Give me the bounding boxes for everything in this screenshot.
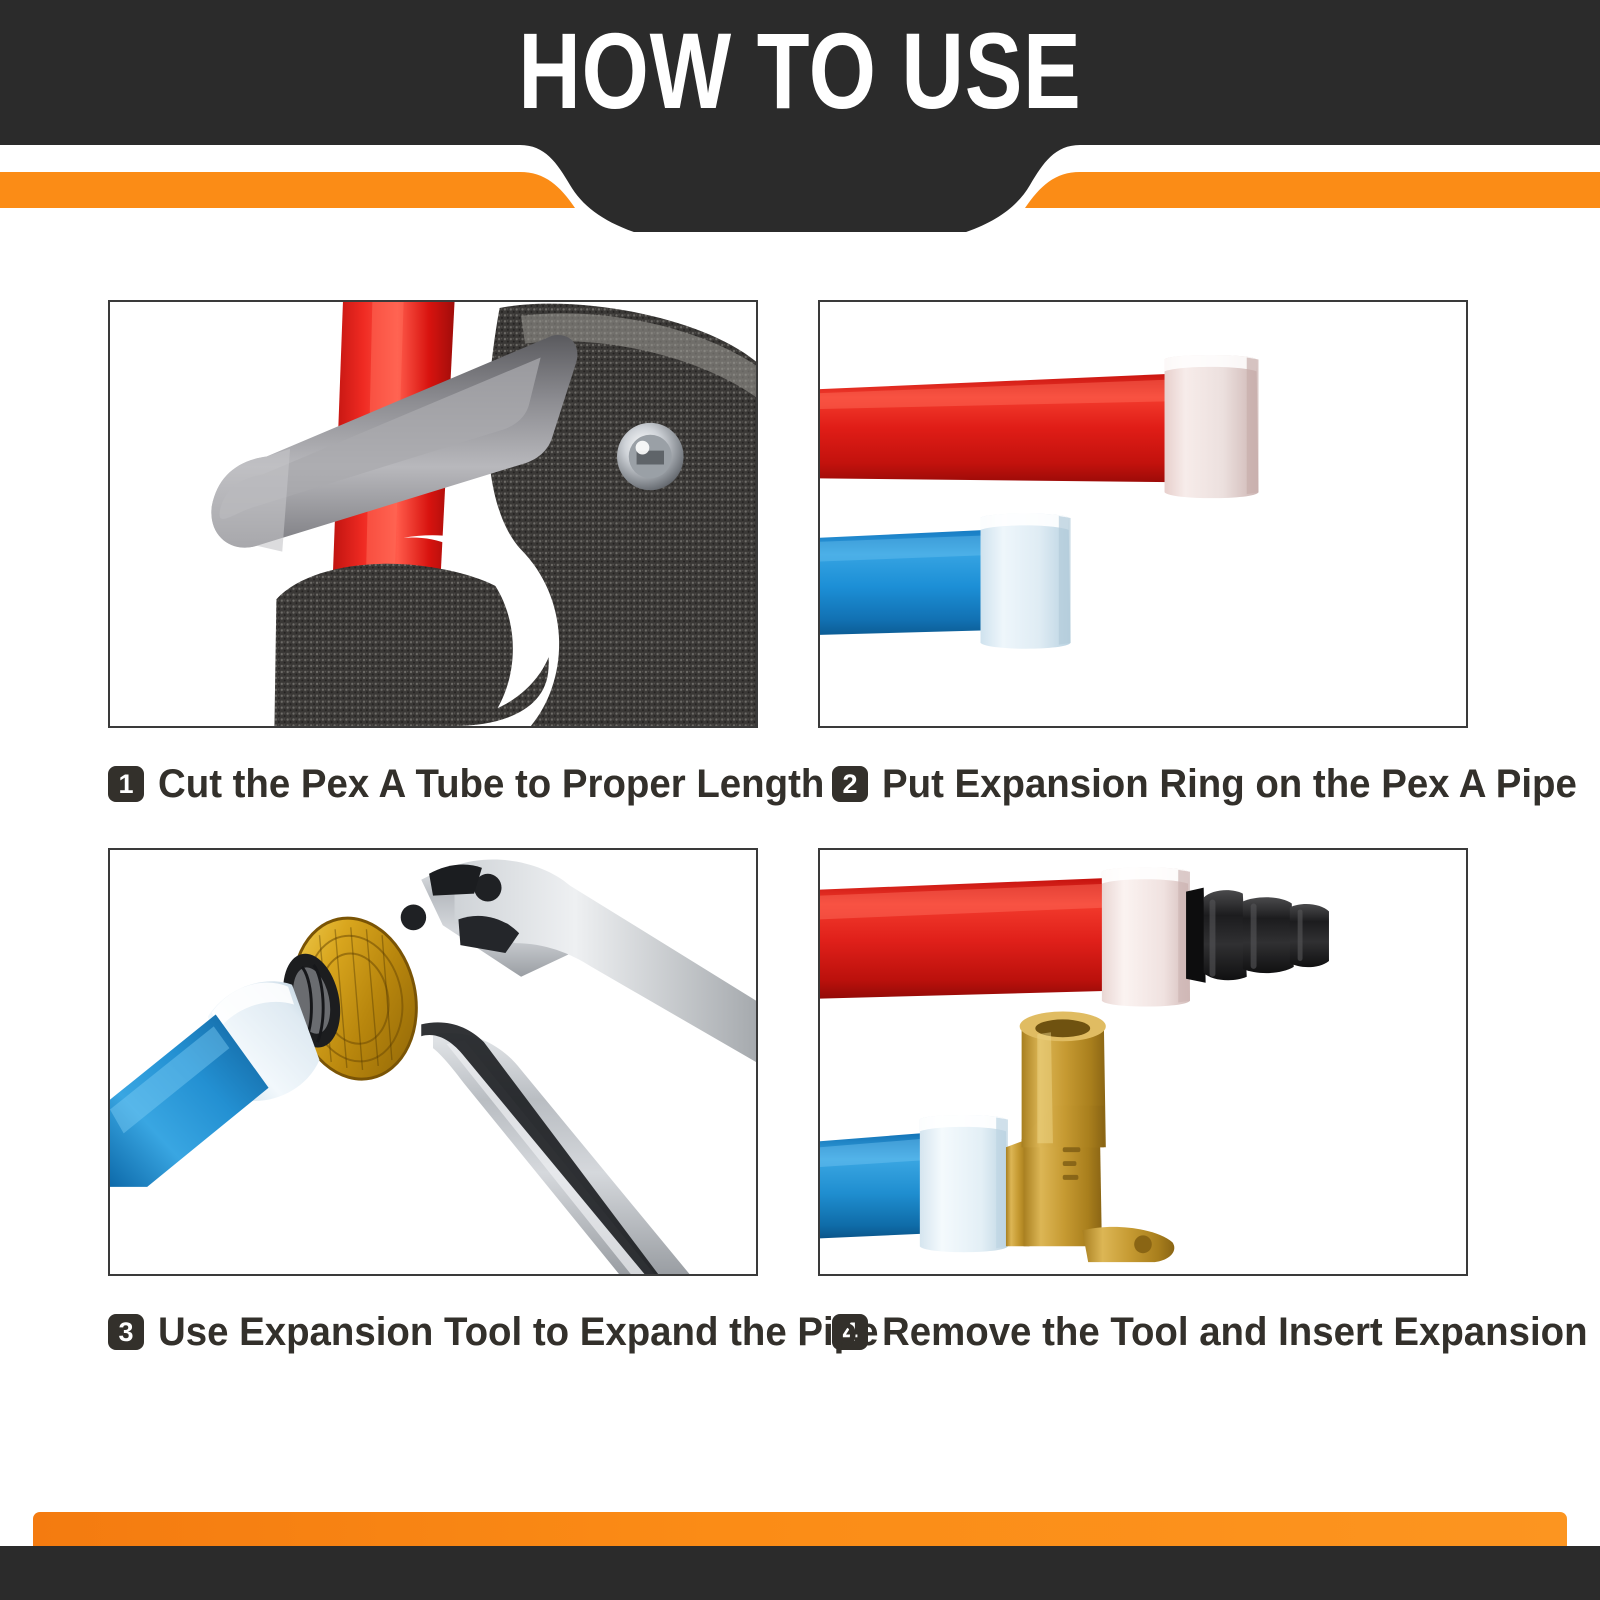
step-card-3: 3 Use Expansion Tool to Expand the Pipe — [0, 848, 800, 1378]
step-card-1: 1 Cut the Pex A Tube to Proper Length — [0, 300, 800, 830]
step-1-badge: 1 — [108, 766, 144, 802]
step-1-photo — [108, 300, 758, 728]
step-4-caption-text: Remove the Tool and Insert Expansion Fit… — [882, 1310, 1600, 1355]
step-4-caption: 4 Remove the Tool and Insert Expansion F… — [818, 1286, 1468, 1378]
step-4-photo — [818, 848, 1468, 1276]
step-3-caption: 3 Use Expansion Tool to Expand the Pipe — [108, 1286, 758, 1378]
step-2-photo — [818, 300, 1468, 728]
step-2-badge: 2 — [832, 766, 868, 802]
header-background-shape — [0, 0, 1600, 232]
step-2-caption: 2 Put Expansion Ring on the Pex A Pipe — [818, 738, 1468, 830]
step-1-caption-text: Cut the Pex A Tube to Proper Length — [158, 762, 824, 807]
step-1-caption: 1 Cut the Pex A Tube to Proper Length — [108, 738, 758, 830]
step-card-2: 2 Put Expansion Ring on the Pex A Pipe — [800, 300, 1600, 830]
step-3-photo — [108, 848, 758, 1276]
step-3-badge: 3 — [108, 1314, 144, 1350]
steps-row-1: 1 Cut the Pex A Tube to Proper Length — [0, 300, 1600, 830]
insert-fitting-illustration — [820, 850, 1466, 1274]
steps-grid: 1 Cut the Pex A Tube to Proper Length — [0, 300, 1600, 1378]
footer-band — [0, 1546, 1600, 1600]
expansion-rings-illustration — [820, 302, 1466, 726]
step-3-caption-text: Use Expansion Tool to Expand the Pipe — [158, 1310, 878, 1355]
step-2-caption-text: Put Expansion Ring on the Pex A Pipe — [882, 762, 1577, 807]
step-card-4: 4 Remove the Tool and Insert Expansion F… — [800, 848, 1600, 1378]
steps-row-2: 3 Use Expansion Tool to Expand the Pipe — [0, 848, 1600, 1378]
footer-accent-bar — [33, 1512, 1567, 1550]
page-header: HOW TO USE — [0, 0, 1600, 232]
pex-pipe-cutter-illustration — [110, 302, 756, 726]
expansion-tool-illustration — [110, 850, 756, 1274]
